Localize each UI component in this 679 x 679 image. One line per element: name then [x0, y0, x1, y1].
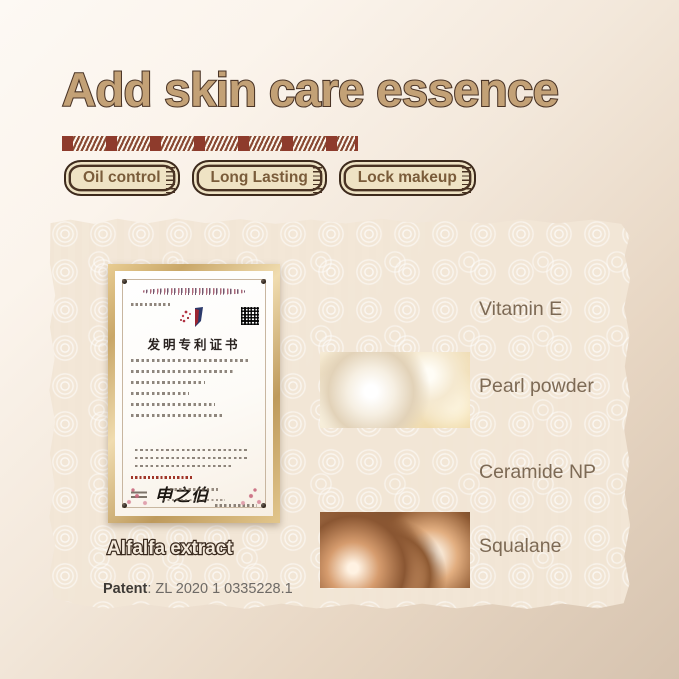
ingredient-photo-column: [320, 272, 470, 592]
patent-number: : ZL 2020 1 0335228.1: [147, 581, 292, 597]
patent-number-line: Patent: ZL 2020 1 0335228.1: [103, 581, 293, 597]
page-title: Add skin care essence: [62, 62, 558, 117]
ingredient-photo-vitamin-e: [320, 272, 470, 348]
feature-tag-lock-makeup[interactable]: Lock makeup: [339, 160, 476, 196]
patent-office-logo-icon: [177, 305, 211, 331]
promo-page: Add skin care essence Oil control Long L…: [0, 0, 679, 679]
frame-screw-icon: [261, 279, 266, 284]
ingredient-photo-pearl-powder: [320, 352, 470, 428]
feature-tag-row: Oil control Long Lasting Lock makeup: [64, 160, 476, 196]
ornamental-divider: [62, 136, 358, 151]
certificate-footer-line: [115, 488, 273, 506]
ingredient-photo-squalane: [320, 512, 470, 588]
certificate-field-lines: [131, 359, 259, 426]
feature-tag-label: Lock makeup: [358, 169, 457, 187]
feature-tag-label: Long Lasting: [211, 169, 308, 187]
ingredient-label-pearl-powder: Pearl powder: [479, 375, 594, 398]
ingredient-label-squalane: Squalane: [479, 535, 561, 558]
ingredient-photo-ceramide-np: [320, 432, 470, 508]
ingredient-label-ceramide-np: Ceramide NP: [479, 461, 596, 484]
patent-label: Patent: [103, 581, 147, 597]
certificate-document: 发明专利证书 申之伯: [115, 271, 273, 516]
certificate-body-paragraph: [135, 449, 257, 472]
feature-tag-oil-control[interactable]: Oil control: [64, 160, 180, 196]
feature-tag-long-lasting[interactable]: Long Lasting: [192, 160, 327, 196]
product-extract-label: Alfalfa extract: [107, 538, 233, 560]
feature-tag-label: Oil control: [83, 169, 161, 187]
certificate-title: 发明专利证书: [115, 334, 273, 353]
frame-screw-icon: [122, 279, 127, 284]
certificate-issuer-text: [131, 303, 171, 306]
ingredient-label-vitamin-e: Vitamin E: [479, 298, 562, 321]
certificate-flourish: [143, 288, 245, 295]
patent-certificate-frame: 发明专利证书 申之伯: [108, 264, 280, 523]
qr-code-icon: [241, 307, 259, 325]
